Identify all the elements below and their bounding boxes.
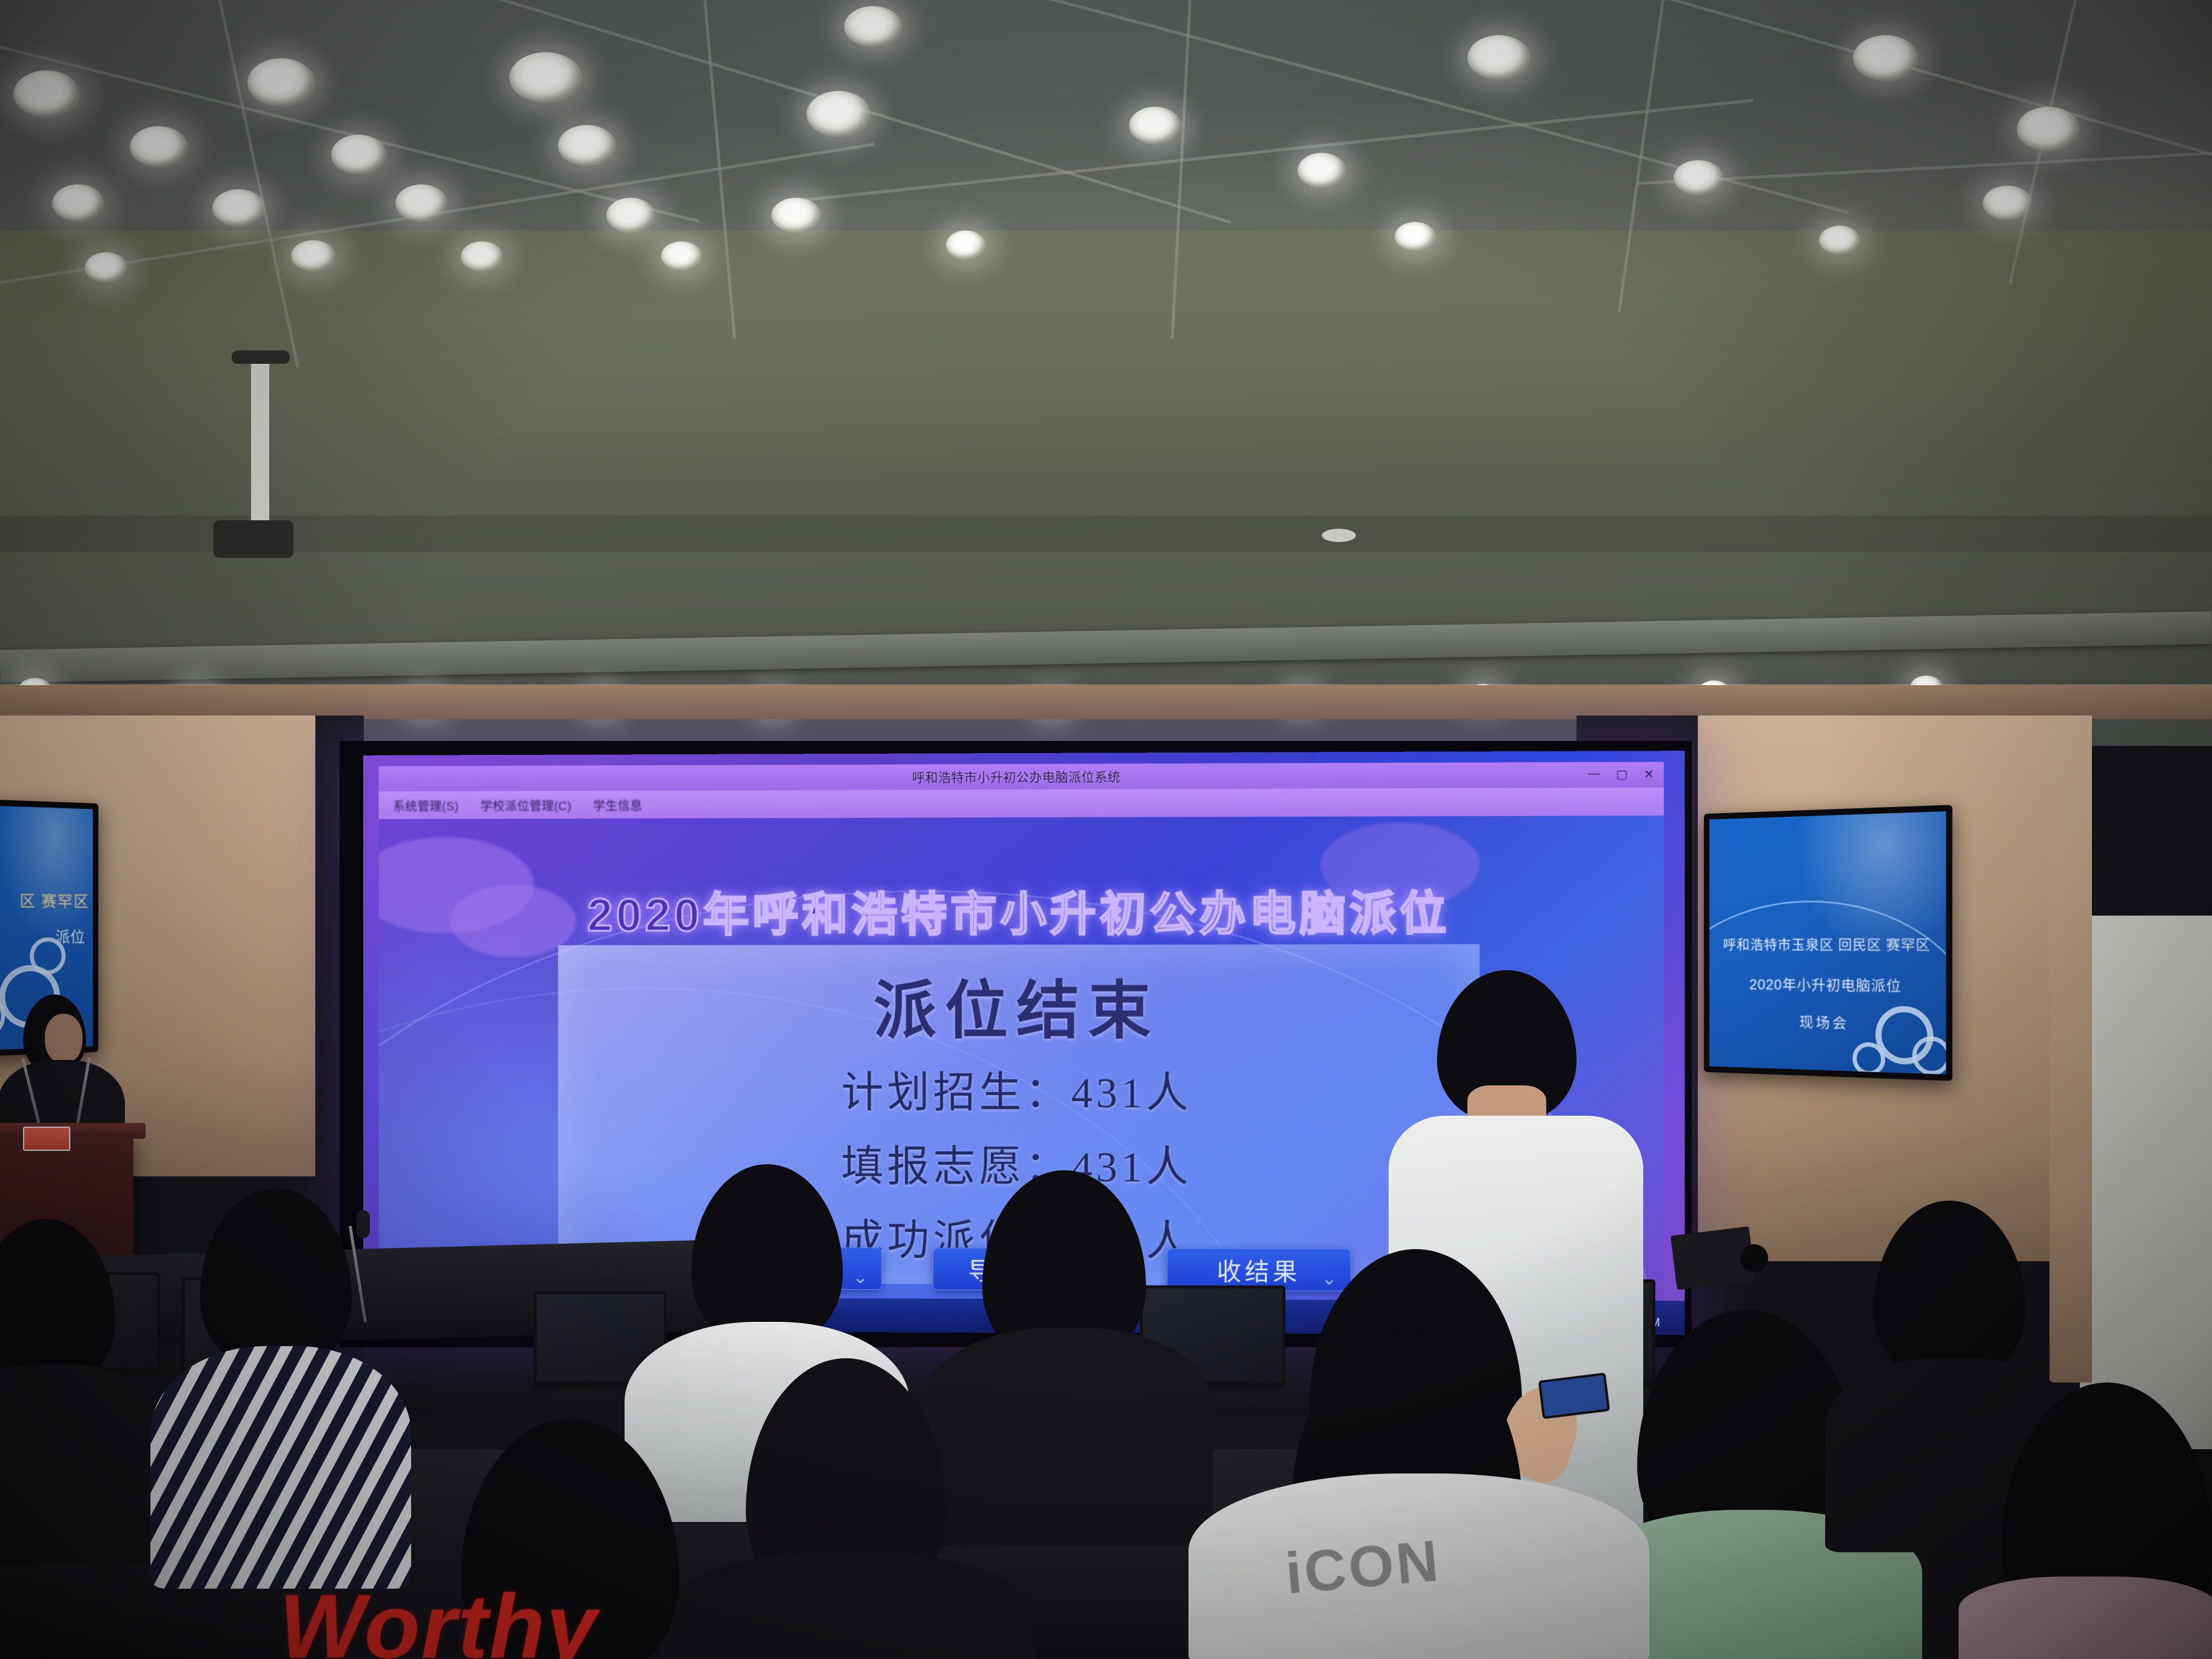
menu-item-system-management[interactable]: 系统管理(S): [393, 796, 459, 814]
gear-icon: [1912, 1036, 1946, 1074]
ceiling-downlight: [771, 198, 821, 233]
ceiling-downlight: [1983, 186, 2033, 221]
ceiling-downlight: [130, 126, 188, 167]
ceiling-downlight: [558, 125, 616, 166]
stat-row-applications-filed: 填报志愿：431人: [558, 1132, 1480, 1195]
ceiling-downlight: [52, 184, 104, 222]
ceiling-downlight: [331, 135, 387, 175]
audience-body: [922, 1328, 1213, 1546]
ceiling-downlight: [806, 91, 871, 137]
camera-lens: [1740, 1244, 1768, 1272]
smartphone[interactable]: [1538, 1372, 1610, 1419]
ceiling-grid-line: [1637, 147, 2212, 185]
ceiling-downlight: [1298, 153, 1346, 188]
shirt-logo-text: iCON: [1283, 1527, 1444, 1607]
ceiling-downlight: [395, 184, 447, 222]
ceiling-downlight: [291, 240, 336, 272]
ceiling-downlight: [1819, 226, 1860, 255]
menu-item-school-allocation-management[interactable]: 学校派位管理(C): [480, 796, 571, 814]
left-tv-line-1: 区 赛罕区: [0, 888, 89, 912]
shirt-graphic-text: Worthy: [279, 1574, 598, 1659]
close-button[interactable]: ✕: [1644, 767, 1654, 782]
window-title: 呼和浩特市小升初公办电脑派位系统: [378, 765, 1664, 788]
ceiling-downlight: [85, 252, 127, 283]
projector-ceiling-plate: [232, 350, 290, 364]
maximize-button[interactable]: ▢: [1616, 767, 1627, 782]
window-controls[interactable]: — ▢ ✕: [1588, 767, 1654, 783]
smartphone-screen: [1541, 1375, 1607, 1416]
stat-unit: 人: [1146, 1069, 1192, 1116]
ceiling-downlight: [661, 241, 702, 270]
stat-row-planned-enrollment: 计划招生：431人: [558, 1059, 1480, 1121]
ceiling-downlight: [2017, 107, 2080, 152]
ceiling-projector: [213, 520, 293, 558]
ceiling-downlight: [1853, 35, 1919, 81]
ceiling: [0, 0, 2212, 746]
ceiling-downlight: [606, 198, 655, 233]
stat-unit: 人: [1146, 1143, 1192, 1190]
chevron-down-icon[interactable]: ⌄: [853, 1267, 871, 1288]
right-wall-tv: 呼和浩特市玉泉区 回民区 赛罕区 2020年小升初电脑派位 现场会: [1704, 805, 1952, 1081]
ceiling-downlight: [509, 52, 582, 103]
stage-soffit: [0, 685, 2212, 719]
button-label: 收结果: [1217, 1252, 1301, 1288]
ceiling-downlight: [844, 6, 902, 47]
projector-smoke-detector: [1322, 529, 1356, 542]
right-tv-line-2: 2020年小升初电脑派位: [1709, 972, 1946, 996]
stat-value: 431: [1071, 1070, 1146, 1117]
slide-banner-title: 2020年呼和浩特市小升初公办电脑派位: [378, 876, 1664, 944]
window-titlebar: 呼和浩特市小升初公办电脑派位系统 — ▢ ✕: [378, 762, 1664, 791]
minimize-button[interactable]: —: [1588, 767, 1600, 782]
right-tv-screen: 呼和浩特市玉泉区 回民区 赛罕区 2020年小升初电脑派位 现场会: [1709, 811, 1946, 1074]
gear-icon: [30, 937, 65, 975]
far-right-wall: [2049, 716, 2092, 1382]
acceptance-result-button[interactable]: 收结果 ⌄: [1167, 1248, 1351, 1292]
ceiling-downlight: [1467, 35, 1530, 80]
ceiling-downlight: [1674, 160, 1723, 195]
desk-microphone-head: [357, 1210, 370, 1238]
audience-body-pink: [1959, 1577, 2212, 1659]
menu-item-student-info[interactable]: 学生信息: [593, 796, 642, 813]
stat-label: 计划招生：: [841, 1069, 1071, 1116]
ceiling-recess-shadow: [0, 515, 2212, 552]
projector-mount-pole: [251, 358, 269, 528]
audience-body: [0, 1364, 176, 1564]
audience-body: [661, 1552, 1037, 1659]
result-heading: 派位结束: [558, 959, 1480, 1051]
ceiling-downlight: [946, 230, 986, 260]
podium-nameplate: [23, 1127, 70, 1151]
side-door[interactable]: [2080, 916, 2212, 1449]
chevron-down-icon[interactable]: ⌄: [1322, 1268, 1341, 1289]
menu-bar[interactable]: 系统管理(S) 学校派位管理(C) 学生信息: [378, 788, 1664, 819]
ceiling-grid-line: [788, 99, 1754, 203]
ceiling-downlight: [1395, 222, 1436, 251]
ceiling-downlight: [461, 241, 503, 272]
ceiling-downlight: [212, 189, 266, 227]
ceiling-downlight: [247, 58, 315, 107]
ceiling-downlight: [13, 70, 80, 118]
ceiling-downlight: [1129, 107, 1181, 144]
audience-torso-patterned: [150, 1346, 411, 1589]
right-tv-line-1: 呼和浩特市玉泉区 回民区 赛罕区: [1709, 933, 1946, 954]
conference-hall-scene: 呼和浩特市小升初公办电脑派位系统 — ▢ ✕ 系统管理(S) 学校派位管理(C)…: [0, 0, 2212, 1659]
speaker-face: [45, 1014, 82, 1064]
